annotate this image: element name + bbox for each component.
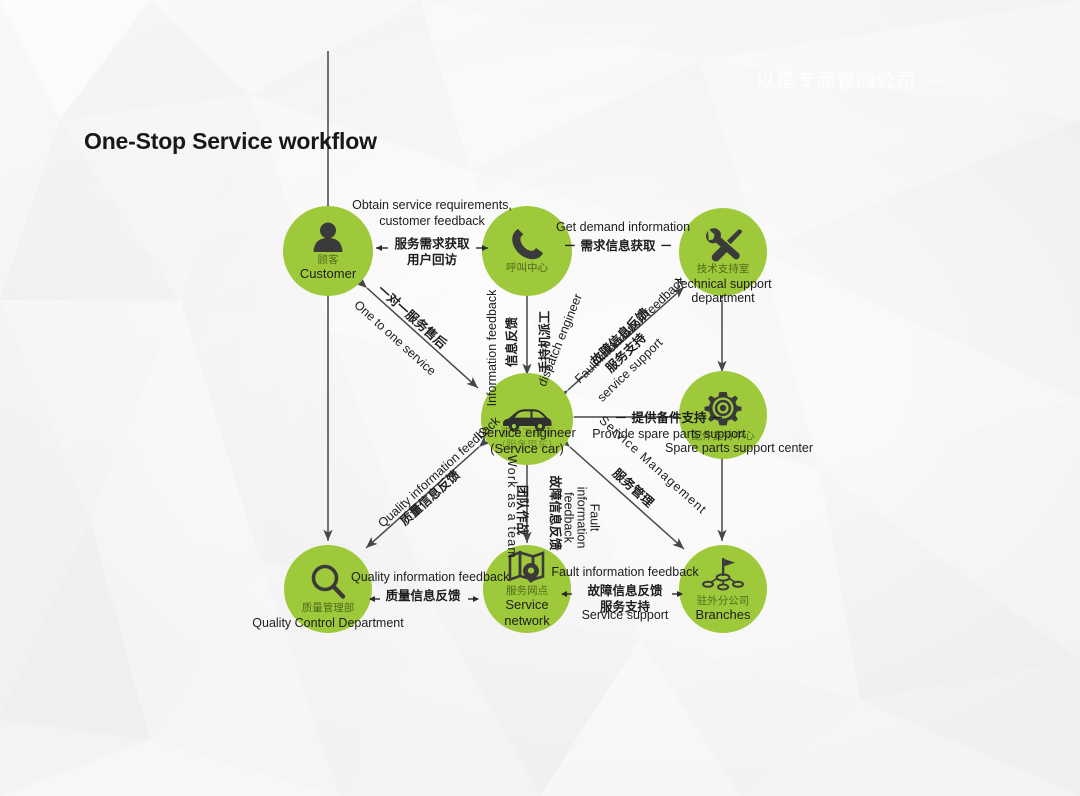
edge-label-work-as-team-cn: 团队作战 — [512, 467, 532, 553]
edge-label-quality-network-en: Quality information feedback — [351, 570, 493, 586]
node-customer-cn: 顾客 — [318, 255, 339, 267]
node-call-center-cn: 呼叫中心 — [506, 263, 548, 275]
edge-label-information-feedback-en: Information feedback — [482, 278, 502, 418]
page-title: One-Stop Service workflow — [84, 128, 377, 155]
edge-label-quality-feedback-diag-en: Quality information feedback — [358, 398, 520, 547]
node-service-network-label: Service network — [504, 597, 550, 628]
edge-arrow-quality-network — [364, 592, 484, 606]
edge-arrow-customer-callcenter — [370, 241, 494, 255]
node-customer-label: Customer — [300, 267, 356, 282]
edge-label-information-feedback-en-text: Information feedback — [485, 290, 499, 407]
edge-label-network-branches-en2-wrap: Service support — [570, 608, 680, 624]
edge-label-information-feedback-cn-text: 信息反馈 — [504, 317, 519, 367]
edge-label-callcenter-techsupport-en: Get demand information — [556, 220, 680, 236]
workflow-diagram: 顾客 Customer 呼叫中心 技术支持室 Technical support… — [0, 0, 1080, 796]
edge-label-customer-callcenter-en2: customer feedback — [352, 214, 512, 230]
edge-label-network-branches: Fault information feedback — [551, 565, 699, 581]
node-quality-control-cn: 质量管理部 — [302, 603, 355, 615]
edge-label-customer-callcenter: Obtain service requirements, customer fe… — [352, 198, 512, 229]
node-branches[interactable]: 驻外分公司 Branches — [679, 545, 767, 633]
node-service-network-cn: 服务网点 — [506, 586, 548, 598]
edge-label-work-as-team-cn-text: 团队作战 — [515, 485, 530, 535]
edge-label-callcenter-techsupport-cn: － 需求信息获取 － — [556, 238, 680, 254]
edge-label-network-branches-en: Fault information feedback — [551, 565, 699, 581]
edge-label-quality-feedback-diag-en-text: Quality information feedback — [375, 414, 502, 530]
edge-label-information-feedback-cn: 信息反馈 — [502, 297, 522, 387]
edge-label-spare-parts-support-en: Provide spare parts support — [565, 427, 773, 443]
node-quality-control-label: Quality Control Department — [233, 616, 423, 630]
node-spare-parts-label: Spare parts support center — [643, 441, 835, 455]
node-service-network-label-line1: Service — [505, 597, 548, 612]
edge-arrow-network-branches — [556, 587, 688, 601]
edge-label-callcenter-techsupport: Get demand information － 需求信息获取 － — [556, 220, 680, 253]
node-branches-cn: 驻外分公司 — [697, 596, 750, 608]
edge-label-customer-callcenter-en1: Obtain service requirements, — [352, 198, 512, 214]
node-branches-label: Branches — [696, 608, 751, 623]
edge-label-fault-feedback-network-en: Fault information feedback — [559, 463, 600, 573]
edge-label-quality-network: Quality information feedback — [351, 570, 493, 586]
node-service-network-label-line2: network — [504, 613, 550, 628]
edge-label-fault-feedback-network-en-text: Fault information feedback — [561, 481, 600, 555]
edge-label-network-branches-en2: Service support — [570, 608, 680, 624]
